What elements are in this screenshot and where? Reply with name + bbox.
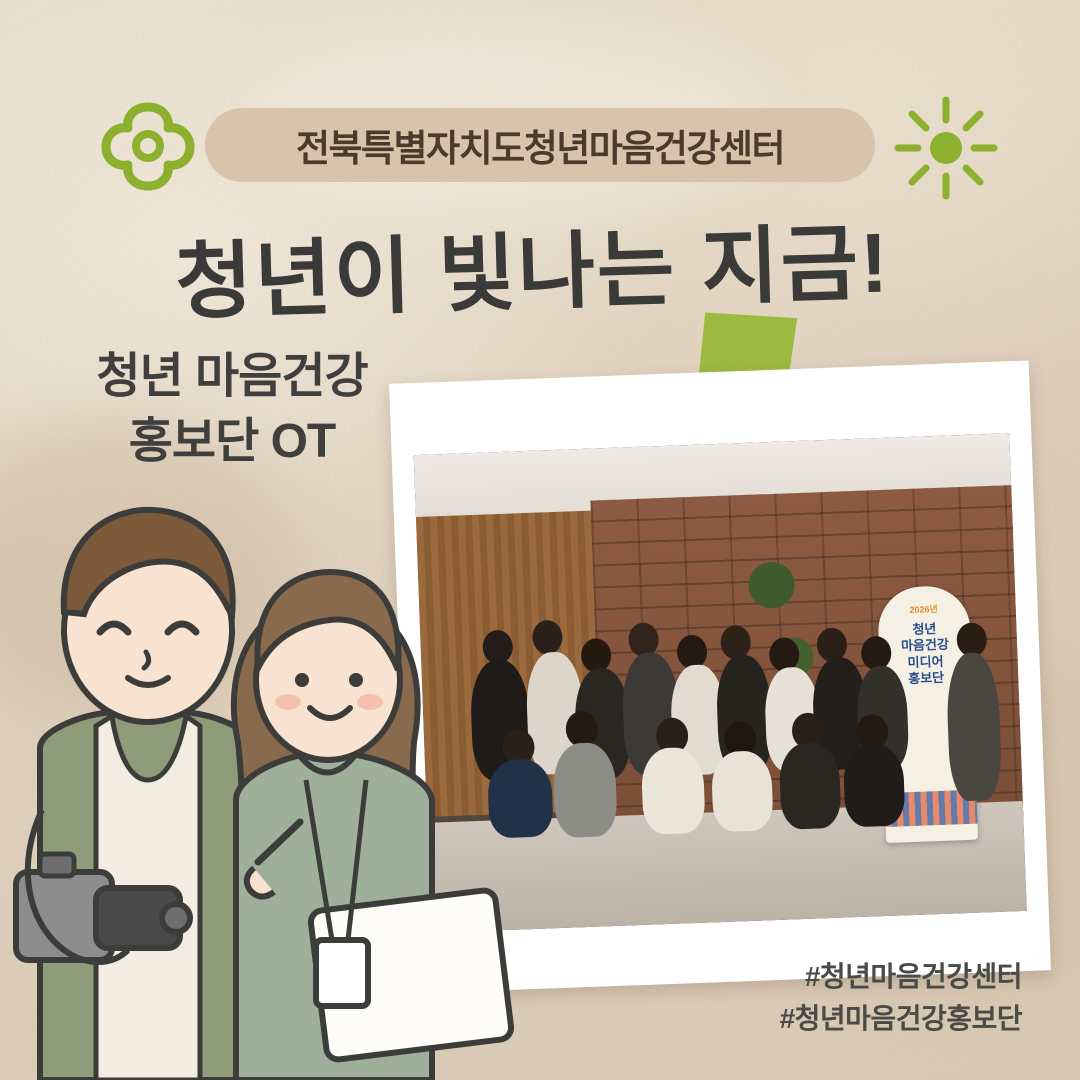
man-character: [16, 510, 256, 1080]
poster-canvas: 전북특별자치도청년마음건강센터 청년이 빛나는 지금! 청년 마음건강 홍보단 …: [0, 0, 1080, 1080]
banner-line-3: 미디어: [907, 653, 943, 671]
photo-person-body: [711, 750, 774, 832]
woman-character: [234, 572, 513, 1080]
sun-icon: [890, 92, 1002, 204]
photo-person-body: [641, 747, 706, 835]
hashtag-2: #청년마음건강홍보단: [780, 998, 1022, 1040]
banner-year: 2026년: [909, 602, 938, 616]
hashtag-block: #청년마음건강센터 #청년마음건강홍보단: [780, 956, 1022, 1040]
character-illustration: [0, 480, 560, 1080]
photo-person-body: [552, 742, 617, 838]
photo-person-body: [778, 742, 841, 830]
hashtag-1: #청년마음건강센터: [780, 956, 1022, 998]
subtitle-line-2: 홍보단 OT: [52, 410, 412, 475]
banner-line-4: 홍보단: [908, 670, 944, 688]
subtitle-line-1: 청년 마음건강: [52, 345, 412, 410]
photo-person-body: [843, 743, 906, 827]
subtitle-block: 청년 마음건강 홍보단 OT: [52, 345, 412, 475]
header-badge: 전북특별자치도청년마음건강센터: [205, 108, 875, 182]
banner-line-1: 청년: [912, 621, 937, 638]
header-badge-label: 전북특별자치도청년마음건강센터: [296, 118, 784, 172]
flower-icon: [98, 95, 198, 195]
banner-line-2: 마음건강: [901, 637, 949, 655]
page-title: 청년이 빛나는 지금!: [173, 195, 916, 336]
